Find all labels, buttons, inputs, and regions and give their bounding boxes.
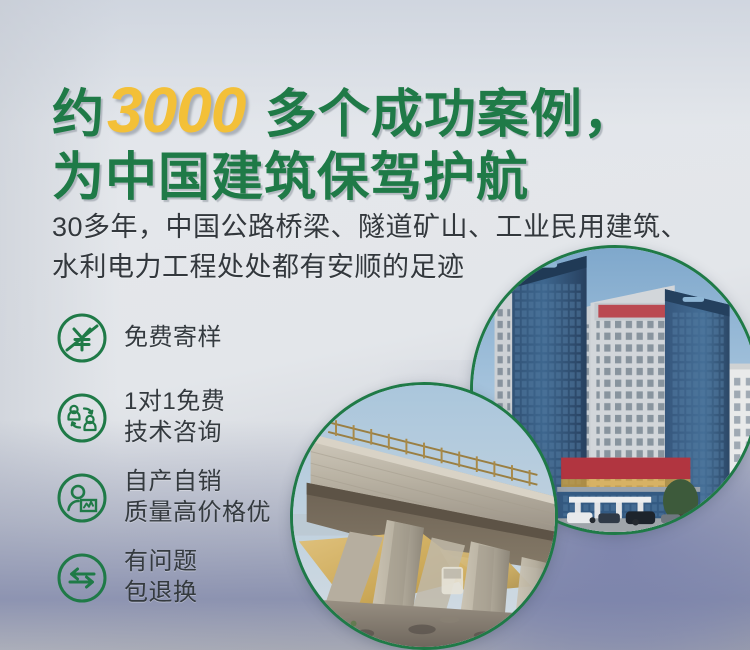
headline-line-1: 约3000 多个成功案例， [52,78,636,142]
self-produced-icon [56,472,108,524]
headline-prefix: 约 [52,86,105,144]
feature-label: 免费寄样 [124,323,222,354]
promo-banner: 约3000 多个成功案例， 为中国建筑保驾护航 30多年，中国公路桥梁、隧道矿山… [0,0,750,650]
feature-label: 自产自销 质量高价格优 [124,467,271,528]
headline-suffix: 多个成功案例， [249,86,635,144]
feature-label: 1对1免费 技术咨询 [124,387,225,448]
subcopy-line-1: 30多年，中国公路桥梁、隧道矿山、工业民用建筑、 [52,208,688,248]
headline: 约3000 多个成功案例， 为中国建筑保驾护航 [52,78,636,204]
feature-label: 有问题 包退换 [124,547,198,608]
return-exchange-icon [56,552,108,604]
free-sample-icon [56,312,108,364]
feature-item-free-sample[interactable]: 免费寄样 [56,298,356,378]
bridge-photo [290,382,558,650]
headline-number: 3000 [105,74,249,146]
headline-line-2: 为中国建筑保驾护航 [52,152,636,204]
one-on-one-consult-icon [56,392,108,444]
